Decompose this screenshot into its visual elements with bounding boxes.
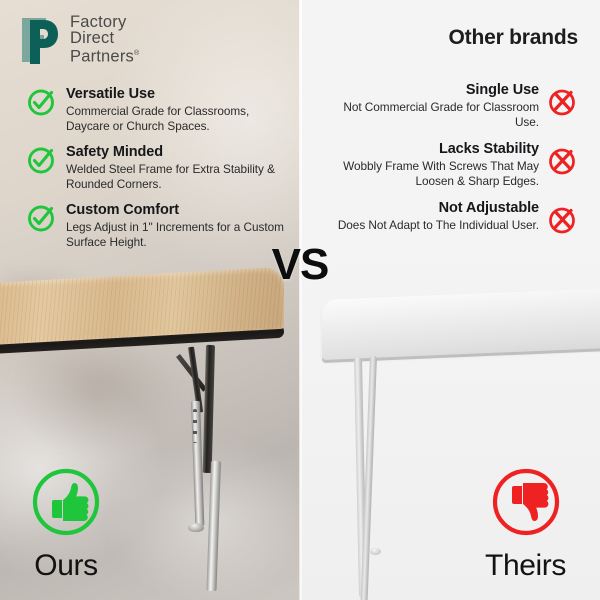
brand-logo-text: Factory Direct Partners® [70, 14, 139, 65]
feature-title: Lacks Stability [328, 141, 539, 158]
feature-item: Custom Comfort Legs Adjust in 1" Increme… [26, 202, 284, 249]
feature-item: Safety Minded Welded Steel Frame for Ext… [26, 144, 284, 191]
ours-product-image [0, 283, 292, 413]
ours-feature-list: Versatile Use Commercial Grade for Class… [26, 86, 284, 260]
leg-foot [370, 548, 381, 555]
feature-title: Not Adjustable [338, 200, 539, 217]
brand-logo: Factory Direct Partners® [20, 14, 139, 66]
check-circle-icon [26, 203, 56, 233]
logo-line-1: Factory [70, 14, 139, 30]
feature-title: Safety Minded [66, 144, 284, 161]
ours-verdict-label: Ours [34, 549, 97, 583]
other-brands-heading: Other brands [449, 26, 578, 50]
theirs-product-image [322, 300, 600, 440]
check-circle-icon [26, 87, 56, 117]
ours-verdict: Ours [30, 466, 102, 583]
x-circle-icon [547, 145, 578, 176]
feature-description: Does Not Adapt to The Individual User. [338, 218, 539, 233]
feature-title: Custom Comfort [66, 202, 284, 219]
check-circle-icon [26, 145, 56, 175]
feature-item: Not Adjustable Does Not Adapt to The Ind… [328, 200, 578, 235]
other-brands-feature-list: Single Use Not Commercial Grade for Clas… [328, 82, 578, 247]
feature-description: Welded Steel Frame for Extra Stability &… [66, 162, 284, 191]
feature-description: Commercial Grade for Classrooms, Daycare… [66, 104, 284, 133]
panel-divider [299, 0, 302, 600]
x-circle-icon [547, 204, 578, 235]
table-top-plastic [322, 288, 600, 360]
thumbs-down-circle-icon [490, 466, 562, 543]
feature-item: Single Use Not Commercial Grade for Clas… [328, 82, 578, 129]
theirs-verdict-label: Theirs [485, 549, 566, 583]
registered-mark: ® [134, 50, 139, 57]
feature-title: Single Use [328, 82, 539, 99]
logo-line-2: Direct [70, 30, 139, 46]
height-adjustment-holes [193, 409, 197, 443]
leg-foot-glide [188, 523, 204, 532]
thumbs-up-circle-icon [30, 466, 102, 543]
feature-description: Wobbly Frame With Screws That May Loosen… [328, 159, 539, 188]
fdp-monogram-icon [20, 14, 60, 66]
feature-item: Lacks Stability Wobbly Frame With Screws… [328, 141, 578, 188]
comparison-infographic: Factory Direct Partners® Other brands Ve… [0, 0, 600, 600]
x-circle-icon [547, 86, 578, 117]
theirs-verdict: Theirs [485, 466, 566, 583]
logo-line-3-wrap: Partners® [70, 46, 139, 65]
feature-title: Versatile Use [66, 86, 284, 103]
feature-description: Not Commercial Grade for Classroom Use. [328, 100, 539, 129]
logo-line-3: Partners [70, 48, 134, 66]
feature-item: Versatile Use Commercial Grade for Class… [26, 86, 284, 133]
